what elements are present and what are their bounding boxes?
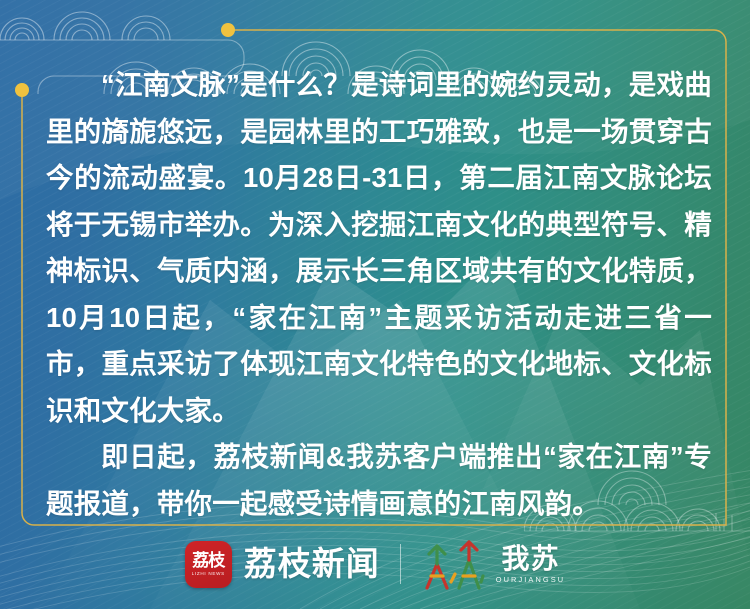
paragraph-2: 即日起，荔枝新闻&我苏客户端推出“家在江南”专题报道，带你一起感受诗情画意的江南… bbox=[46, 434, 712, 527]
wosu-en: OURJIANGSU bbox=[496, 574, 565, 585]
brand-lizhi-news[interactable]: 荔枝 LIZHI NEWS 荔枝新闻 bbox=[185, 541, 380, 588]
brand-divider bbox=[400, 544, 401, 584]
lizhi-logo-icon: 荔枝 LIZHI NEWS bbox=[185, 541, 232, 588]
frame-dot-left bbox=[15, 83, 29, 97]
lizhi-wordmark: 荔枝新闻 bbox=[244, 544, 380, 584]
poster-canvas: “江南文脉”是什么？是诗词里的婉约灵动，是戏曲里的旖旎悠远，是园林里的工巧雅致，… bbox=[0, 0, 750, 609]
lizhi-mark-en: LIZHI NEWS bbox=[192, 570, 225, 577]
footer-brand-bar: 荔枝 LIZHI NEWS 荔枝新闻 bbox=[0, 533, 750, 595]
wosu-cn: 我苏 bbox=[501, 543, 559, 574]
wosu-logo-icon bbox=[421, 536, 485, 592]
paragraph-1: “江南文脉”是什么？是诗词里的婉约灵动，是戏曲里的旖旎悠远，是园林里的工巧雅致，… bbox=[46, 62, 712, 434]
lizhi-mark-cn: 荔枝 bbox=[192, 552, 224, 570]
frame-dot-top bbox=[221, 23, 235, 37]
article-body: “江南文脉”是什么？是诗词里的婉约灵动，是戏曲里的旖旎悠远，是园林里的工巧雅致，… bbox=[46, 62, 712, 527]
brand-wosu[interactable]: 我苏 OURJIANGSU bbox=[421, 536, 565, 592]
wosu-wordmark: 我苏 OURJIANGSU bbox=[496, 543, 565, 585]
